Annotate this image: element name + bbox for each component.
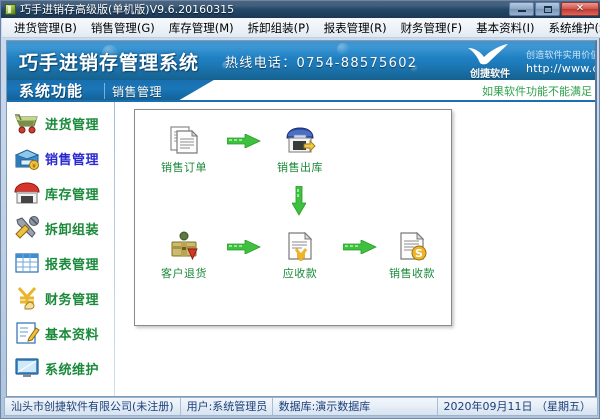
arrow-order-to-out-icon [227,134,261,148]
header-banner: 巧手进销存管理系统 热线电话：0754-88575602 创捷软件 创造软件实用… [7,41,596,80]
flow-node-label: 销售收款 [389,267,435,280]
hotline-text: 热线电话：0754-88575602 [225,52,417,71]
notice-text: 如果软件功能不能满足 [482,84,592,100]
status-database: 数据库:演示数据库 [273,398,438,415]
status-date: 2020年09月11日 （星期五） [438,398,597,415]
status-user: 用户:系统管理员 [181,398,273,415]
flow-node-customer-return[interactable]: 客户退货 [149,230,219,281]
content-area: 销售订单 [116,102,596,396]
sidebar-item-reports[interactable]: 报表管理 [13,246,111,280]
flow-node-label: 销售出库 [277,161,323,174]
sales-flow-panel: 销售订单 [134,109,452,326]
tab-strip: 系统功能 销售管理 如果软件功能不能满足 [7,80,596,102]
maximize-button[interactable] [535,2,560,16]
finance-icon [13,284,41,312]
leaf-logo-icon [467,44,511,65]
return-goods-icon [168,251,200,265]
menu-item-reports[interactable]: 报表管理(R) [317,19,394,37]
sidebar-item-purchase[interactable]: 进货管理 [13,106,111,140]
close-icon: ✕ [576,4,584,14]
sidebar-item-label: 基本资料 [45,324,99,343]
menu-item-finance[interactable]: 财务管理(F) [394,19,470,37]
svg-text:¥: ¥ [32,163,36,170]
menu-item-system-maintenance[interactable]: 系统维护(S) [542,19,600,37]
flow-node-receivable[interactable]: 应收款 [265,230,335,281]
flow-node-sales-outbound[interactable]: 销售出库 [265,124,335,175]
flow-node-label: 客户退货 [161,267,207,280]
sidebar-item-label: 拆卸组装 [45,219,99,238]
cart-icon [13,109,41,137]
logo-company-name: 创捷软件 [459,65,521,80]
sidebar: 进货管理 ¥ 销售管理 [7,102,115,396]
status-company: 汕头市创捷软件有限公司(未注册) [5,398,181,415]
payment-received-icon: S [396,251,428,265]
flow-node-label: 应收款 [283,267,318,280]
close-button[interactable]: ✕ [561,2,599,16]
minimize-button[interactable] [509,2,534,16]
sidebar-item-basic-data[interactable]: 基本资料 [13,316,111,350]
monitor-icon [13,354,41,382]
flow-node-sales-order[interactable]: 销售订单 [149,124,219,175]
sales-box-icon: ¥ [13,144,41,172]
sidebar-item-label: 进货管理 [45,114,99,133]
company-logo: 创捷软件 [459,43,521,79]
tab-sales-management[interactable]: 销售管理 [112,84,162,100]
edit-note-icon [13,319,41,347]
body-area: 进货管理 ¥ 销售管理 [7,102,596,396]
menu-bar: 进货管理(B) 销售管理(G) 库存管理(M) 拆卸组装(P) 报表管理(R) … [2,18,600,38]
menu-item-inventory[interactable]: 库存管理(M) [162,19,241,37]
window-controls: ✕ [509,2,599,16]
client-area: 巧手进销存管理系统 热线电话：0754-88575602 创捷软件 创造软件实用… [6,40,597,397]
flow-node-label: 销售订单 [161,161,207,174]
window-title: 巧手进销存高级版(单机版)V9.6.20160315 [20,1,234,18]
title-bar[interactable]: 巧手进销存高级版(单机版)V9.6.20160315 ✕ [1,1,600,18]
sidebar-item-label: 系统维护 [45,359,99,378]
menu-item-assembly[interactable]: 拆卸组装(P) [241,19,317,37]
sidebar-item-sales[interactable]: ¥ 销售管理 [13,141,111,175]
sidebar-item-label: 财务管理 [45,289,99,308]
status-bar: 汕头市创捷软件有限公司(未注册) 用户:系统管理员 数据库:演示数据库 2020… [4,397,598,416]
system-function-label: 系统功能 [19,82,83,101]
company-url[interactable]: http://www.qs [526,62,596,75]
document-stack-icon [168,145,200,159]
tab-divider [104,83,105,99]
sidebar-item-inventory[interactable]: 库存管理 [13,176,111,210]
sidebar-item-system-maintenance[interactable]: 系统维护 [13,351,111,385]
receivable-icon [284,251,316,265]
svg-text:S: S [415,247,423,260]
tools-icon [13,214,41,242]
maximize-icon [544,6,552,13]
menu-item-sales[interactable]: 销售管理(G) [84,19,162,37]
menu-item-basic-data[interactable]: 基本资料(I) [469,19,541,37]
sidebar-item-finance[interactable]: 财务管理 [13,281,111,315]
warehouse-icon [13,179,41,207]
arrow-return-to-receivable-icon [227,240,261,254]
application-window: 巧手进销存高级版(单机版)V9.6.20160315 ✕ 进货管理(B) 销售管… [0,0,600,419]
sidebar-item-label: 库存管理 [45,184,99,203]
table-icon [13,249,41,277]
app-icon [5,4,16,15]
menu-item-purchase[interactable]: 进货管理(B) [7,19,84,37]
warehouse-out-icon [284,145,316,159]
sidebar-item-label: 销售管理 [45,149,99,168]
sidebar-item-label: 报表管理 [45,254,99,273]
flow-node-sales-payment[interactable]: S 销售收款 [377,230,447,281]
company-slogan: 创造软件实用价值 提 [526,48,596,61]
minimize-icon [518,10,526,12]
arrow-receivable-to-payment-icon [343,240,377,254]
arrow-out-to-receivable-icon [292,186,306,216]
sidebar-item-assembly[interactable]: 拆卸组装 [13,211,111,245]
product-title: 巧手进销存管理系统 [19,48,199,75]
